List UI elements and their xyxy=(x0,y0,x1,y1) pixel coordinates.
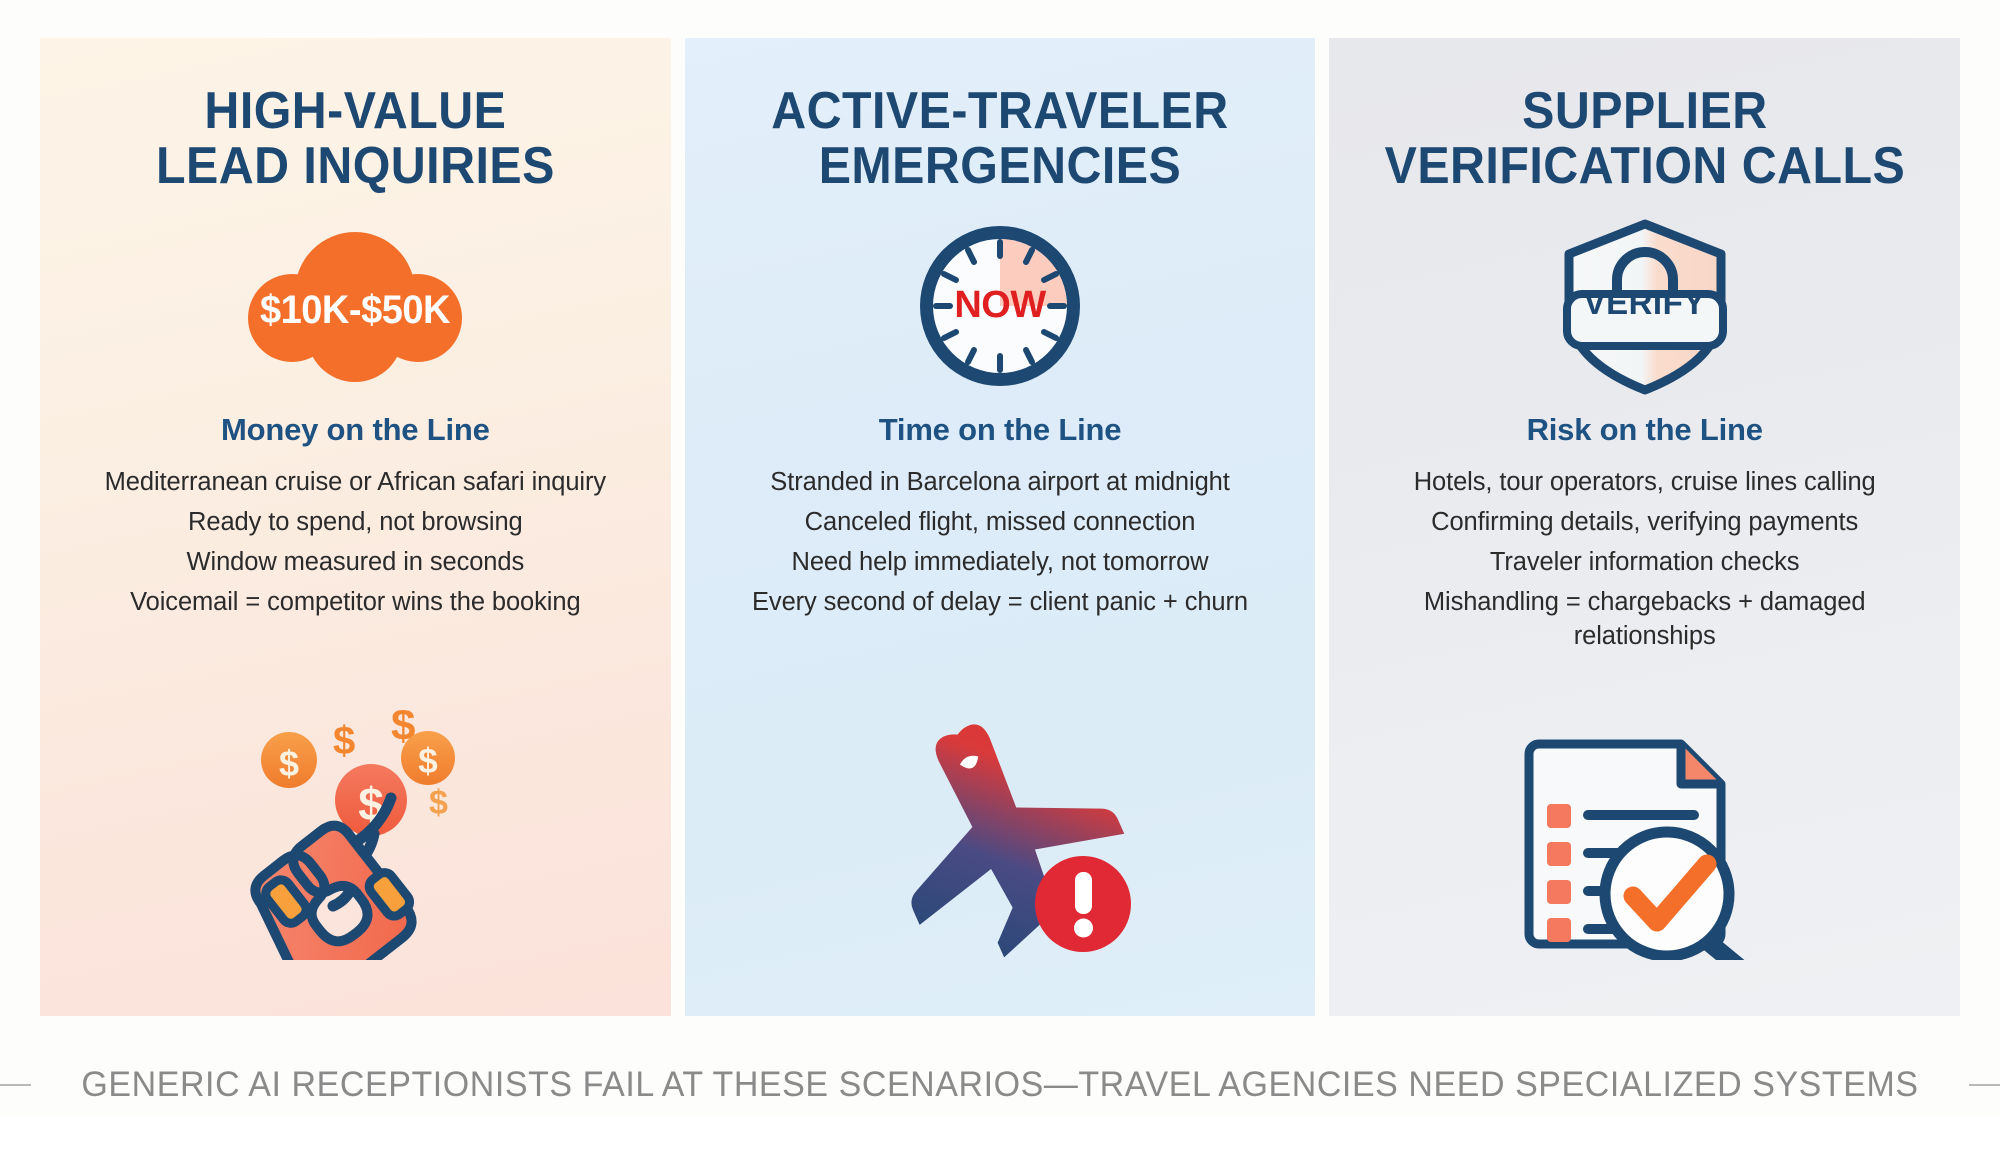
clock-label: NOW xyxy=(910,284,1090,327)
footer-text: Generic AI receptionists fail at these s… xyxy=(81,1065,1918,1105)
column-subhead: Money on the Line xyxy=(221,412,490,448)
footer-rule-right xyxy=(1969,1084,2000,1086)
checklist-magnifier-icon xyxy=(1505,730,1785,960)
infographic-root: HIGH-VALUE LEAD INQUIRIES $10K-$50K xyxy=(0,0,2000,1116)
top-icon-shield: VERIFY xyxy=(1545,206,1745,406)
list-item: Confirming details, verifying payments xyxy=(1355,506,1934,540)
magnifier-icon xyxy=(1605,832,1757,960)
alert-badge-icon xyxy=(1035,856,1131,952)
footer-rule-left xyxy=(0,1084,31,1086)
column-active-traveler-emergencies: ACTIVE-TRAVELER EMERGENCIES xyxy=(685,38,1316,1016)
top-icon-clock: NOW xyxy=(910,206,1090,406)
list-item: Window measured in seconds xyxy=(66,546,645,580)
column-high-value-lead-inquiries: HIGH-VALUE LEAD INQUIRIES $10K-$50K xyxy=(40,38,671,1016)
list-item: Traveler information checks xyxy=(1355,546,1934,580)
bottom-icon-area: $ $ $ $ $ $ xyxy=(40,710,671,960)
svg-text:$: $ xyxy=(429,784,448,822)
column-title: SUPPLIER VERIFICATION CALLS xyxy=(1384,84,1905,194)
footer-banner: Generic AI receptionists fail at these s… xyxy=(40,1016,1960,1154)
money-cloud-badge-icon: $10K-$50K xyxy=(230,226,480,386)
shield-label: VERIFY xyxy=(1545,284,1745,322)
svg-text:$: $ xyxy=(333,719,355,763)
column-subhead: Risk on the Line xyxy=(1527,412,1763,448)
badge-label: $10K-$50K xyxy=(237,288,475,333)
bullet-list: Mediterranean cruise or African safari i… xyxy=(66,466,645,626)
column-title: HIGH-VALUE LEAD INQUIRIES xyxy=(156,84,555,194)
bullet-list: Stranded in Barcelona airport at midnigh… xyxy=(711,466,1290,626)
svg-text:$: $ xyxy=(279,743,299,784)
column-supplier-verification-calls: SUPPLIER VERIFICATION CALLS xyxy=(1329,38,1960,1016)
urgent-clock-icon: NOW xyxy=(910,216,1090,396)
phone-handset-icon xyxy=(233,814,426,960)
list-item: Mediterranean cruise or African safari i… xyxy=(66,466,645,500)
coin-icon: $ xyxy=(261,732,317,788)
bottom-icon-area xyxy=(1329,730,1960,960)
list-item: Mishandling = chargebacks + damaged rela… xyxy=(1355,586,1934,654)
coin-icon: $ xyxy=(401,731,455,785)
list-item: Ready to spend, not browsing xyxy=(66,506,645,540)
column-subhead: Time on the Line xyxy=(879,412,1122,448)
airplane-alert-icon xyxy=(840,710,1160,960)
list-item: Canceled flight, missed connection xyxy=(711,506,1290,540)
list-item: Hotels, tour operators, cruise lines cal… xyxy=(1355,466,1934,500)
list-item: Need help immediately, not tomorrow xyxy=(711,546,1290,580)
verify-shield-lock-icon: VERIFY xyxy=(1545,214,1745,399)
bottom-icon-area xyxy=(685,710,1316,960)
list-item: Every second of delay = client panic + c… xyxy=(711,586,1290,620)
ringing-phone-with-money-icon: $ $ $ $ $ $ xyxy=(205,710,505,960)
svg-text:$: $ xyxy=(419,742,438,781)
bullet-list: Hotels, tour operators, cruise lines cal… xyxy=(1355,466,1934,660)
list-item: Stranded in Barcelona airport at midnigh… xyxy=(711,466,1290,500)
list-item: Voicemail = competitor wins the booking xyxy=(66,586,645,620)
column-title: ACTIVE-TRAVELER EMERGENCIES xyxy=(771,84,1228,194)
columns-container: HIGH-VALUE LEAD INQUIRIES $10K-$50K xyxy=(40,38,1960,1016)
top-icon-money-badge: $10K-$50K xyxy=(230,206,480,406)
